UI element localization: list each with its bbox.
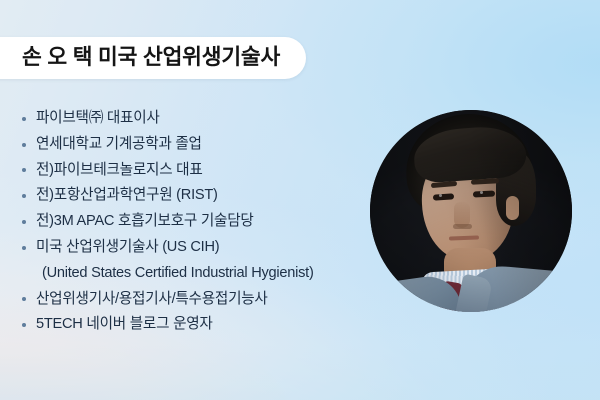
bullet-dot-icon: [22, 235, 36, 261]
list-item: 전)포항산업과학연구원 (RIST): [22, 183, 382, 209]
list-item: 연세대학교 기계공학과 졸업: [22, 132, 382, 158]
list-item-label: 미국 산업위생기술사 (US CIH): [36, 235, 219, 261]
list-item-label: 산업위생기사/용접기사/특수용접기능사: [36, 287, 268, 313]
title-pill: 손 오 택 미국 산업위생기술사: [0, 37, 306, 79]
list-item-label: 전)포항산업과학연구원 (RIST): [36, 183, 218, 209]
bullet-dot-icon: [22, 106, 36, 132]
list-item-label: 전)3M APAC 호흡기보호구 기술담당: [36, 209, 254, 235]
portrait-eye-highlight-right: [480, 191, 483, 194]
list-item-continuation: (United States Certified Industrial Hygi…: [22, 261, 382, 287]
list-item-label: 연세대학교 기계공학과 졸업: [36, 132, 202, 158]
portrait-eye-highlight-left: [439, 194, 442, 197]
credentials-list: 파이브택㈜ 대표이사연세대학교 기계공학과 졸업전)파이브테크놀로지스 대표전)…: [22, 106, 382, 338]
portrait-ear: [506, 196, 519, 220]
list-item-label: 파이브택㈜ 대표이사: [36, 106, 160, 132]
bullet-dot-icon: [22, 183, 36, 209]
list-item-label: 5TECH 네이버 블로그 운영자: [36, 312, 213, 338]
slide-root: 손 오 택 미국 산업위생기술사 파이브택㈜ 대표이사연세대학교 기계공학과 졸…: [0, 0, 600, 400]
bullet-dot-icon: [22, 287, 36, 313]
list-item: 미국 산업위생기술사 (US CIH): [22, 235, 382, 261]
list-item: 전)파이브테크놀로지스 대표: [22, 158, 382, 184]
bullet-dot-icon: [22, 261, 36, 287]
bullet-dot-icon: [22, 158, 36, 184]
list-item: 5TECH 네이버 블로그 운영자: [22, 312, 382, 338]
bullet-dot-icon: [22, 209, 36, 235]
portrait-backdrop: [370, 110, 572, 312]
portrait-avatar: [370, 110, 572, 312]
list-item-label: 전)파이브테크놀로지스 대표: [36, 158, 203, 184]
portrait-eye-right: [473, 190, 495, 197]
bullet-dot-icon: [22, 132, 36, 158]
list-item: 파이브택㈜ 대표이사: [22, 106, 382, 132]
list-item-label: (United States Certified Industrial Hygi…: [36, 261, 314, 287]
portrait-nostrils: [453, 224, 472, 229]
list-item: 전)3M APAC 호흡기보호구 기술담당: [22, 209, 382, 235]
list-item: 산업위생기사/용접기사/특수용접기능사: [22, 287, 382, 313]
bullet-dot-icon: [22, 312, 36, 338]
page-title: 손 오 택 미국 산업위생기술사: [22, 47, 280, 69]
